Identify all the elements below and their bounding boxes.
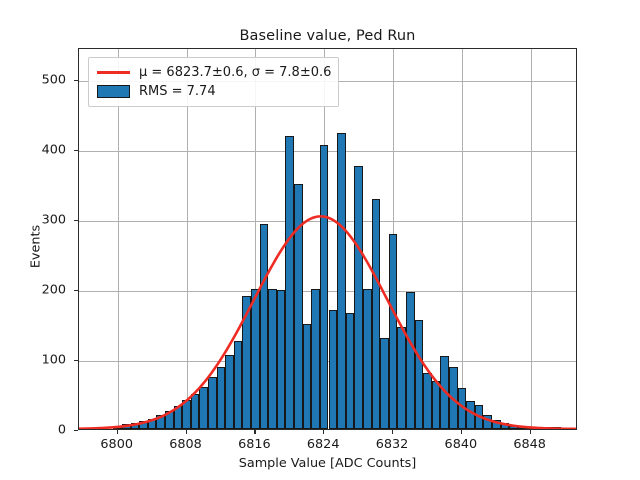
histogram-bar (329, 310, 338, 429)
x-tick-label: 6848 (490, 437, 570, 452)
y-tick-mark (74, 290, 78, 291)
histogram-bar (225, 355, 234, 429)
y-tick-label: 100 (0, 352, 66, 367)
legend-item-rms: RMS = 7.74 (95, 82, 331, 101)
x-tick-mark (392, 430, 393, 434)
histogram-bar (389, 234, 398, 429)
x-tick-mark (323, 430, 324, 434)
histogram-bar (440, 356, 449, 429)
histogram-bar (372, 199, 381, 429)
histogram-bar (311, 289, 320, 429)
y-tick-label: 500 (0, 72, 66, 87)
histogram-bar (363, 289, 372, 429)
histogram-bar (466, 401, 475, 429)
x-tick-mark (461, 430, 462, 434)
legend-item-rms-label: RMS = 7.74 (139, 84, 216, 99)
y-tick-label: 0 (0, 423, 66, 438)
histogram-bar (346, 313, 355, 429)
histogram-bar (174, 406, 183, 429)
x-axis-label: Sample Value [ADC Counts] (78, 456, 577, 471)
histogram-bar (165, 411, 174, 429)
y-tick-mark (74, 430, 78, 431)
x-tick-mark (117, 430, 118, 434)
histogram-bar (432, 381, 441, 429)
histogram-bar (320, 145, 329, 429)
histogram-bar (415, 320, 424, 429)
histogram-bar (199, 387, 208, 429)
histogram-bar (552, 427, 561, 429)
legend: μ = 6823.7±0.6, σ = 7.8±0.6 RMS = 7.74 (88, 57, 339, 107)
histogram-bar (492, 420, 501, 429)
histogram-bar (242, 296, 251, 429)
histogram-bar (483, 415, 492, 429)
histogram-patch-swatch-icon (97, 85, 130, 98)
histogram-bar (191, 394, 200, 429)
histogram-bar (156, 415, 165, 429)
histogram-bar (423, 373, 432, 429)
x-tick-mark (530, 430, 531, 434)
histogram-bar (397, 327, 406, 429)
y-tick-mark (74, 150, 78, 151)
histogram-bar (406, 292, 415, 429)
histogram-bar (285, 136, 294, 429)
histogram-bar (208, 377, 217, 429)
histogram-bar (260, 224, 269, 429)
histogram-bar (131, 423, 140, 429)
y-tick-mark (74, 220, 78, 221)
y-tick-label: 400 (0, 142, 66, 157)
y-tick-mark (74, 80, 78, 81)
histogram-bar (535, 427, 544, 429)
x-tick-mark (186, 430, 187, 434)
histogram-bar (518, 426, 527, 429)
histogram-bar (148, 419, 157, 430)
histogram-bar (354, 166, 363, 429)
histogram-bar (544, 427, 553, 429)
histogram-bar (268, 289, 277, 429)
histogram-bar (303, 324, 312, 429)
histogram-figure: Baseline value, Ped Run 0100200300400500… (0, 0, 640, 480)
histogram-bar (449, 367, 458, 429)
histogram-bar (501, 423, 510, 429)
histogram-bar (182, 400, 191, 429)
histogram-bar (217, 367, 226, 429)
histogram-bar (458, 388, 467, 429)
fit-line-swatch-icon (97, 71, 130, 74)
histogram-bar (526, 427, 535, 429)
y-axis-label: Events (29, 197, 44, 297)
chart-title: Baseline value, Ped Run (78, 28, 577, 44)
histogram-bar (139, 421, 148, 429)
histogram-bar (251, 289, 260, 429)
histogram-bar (294, 184, 303, 429)
histogram-bar (337, 133, 346, 429)
histogram-bar (122, 424, 131, 429)
histogram-bar (234, 341, 243, 429)
histogram-bar (475, 405, 484, 429)
legend-item-fit: μ = 6823.7±0.6, σ = 7.8±0.6 (95, 63, 331, 82)
histogram-bar (509, 426, 518, 430)
x-tick-mark (254, 430, 255, 434)
histogram-bar (277, 290, 286, 429)
histogram-bar (380, 338, 389, 429)
y-tick-mark (74, 360, 78, 361)
legend-item-fit-label: μ = 6823.7±0.6, σ = 7.8±0.6 (139, 65, 331, 80)
histogram-bar (113, 426, 122, 430)
